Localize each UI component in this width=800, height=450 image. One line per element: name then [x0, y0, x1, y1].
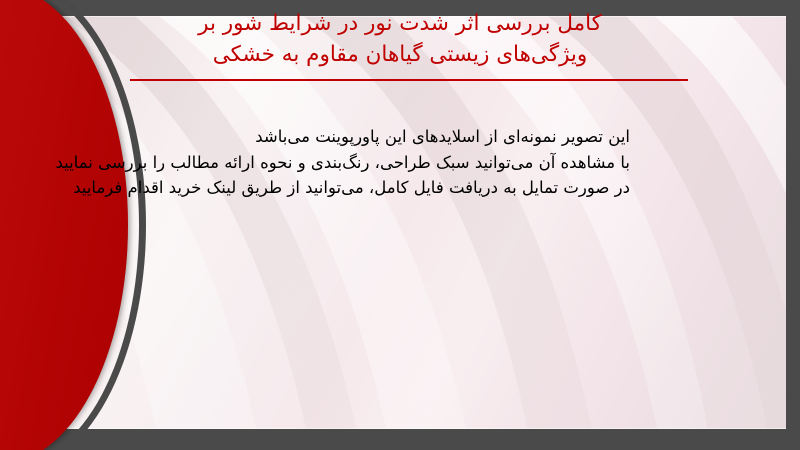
slide-title-line-2: ویژگی‌های زیستی گیاهان مقاوم به خشکی — [100, 39, 700, 70]
slide-title-line-1: کامل بررسی اثر شدت نور در شرایط شور بر — [100, 8, 700, 39]
title-underline — [130, 79, 688, 81]
presentation-slide: کامل بررسی اثر شدت نور در شرایط شور بر و… — [0, 0, 800, 450]
slide-body-text: این تصویر نمونه‌ای از اسلایدهای این پاور… — [55, 124, 630, 201]
body-line-3: در صورت تمایل به دریافت فایل کامل، می‌تو… — [55, 175, 630, 201]
body-line-1: این تصویر نمونه‌ای از اسلایدهای این پاور… — [55, 124, 630, 150]
body-line-2: با مشاهده آن می‌توانید سبک طراحی، رنگ‌بن… — [55, 150, 630, 176]
slide-title: کامل بررسی اثر شدت نور در شرایط شور بر و… — [100, 8, 700, 70]
